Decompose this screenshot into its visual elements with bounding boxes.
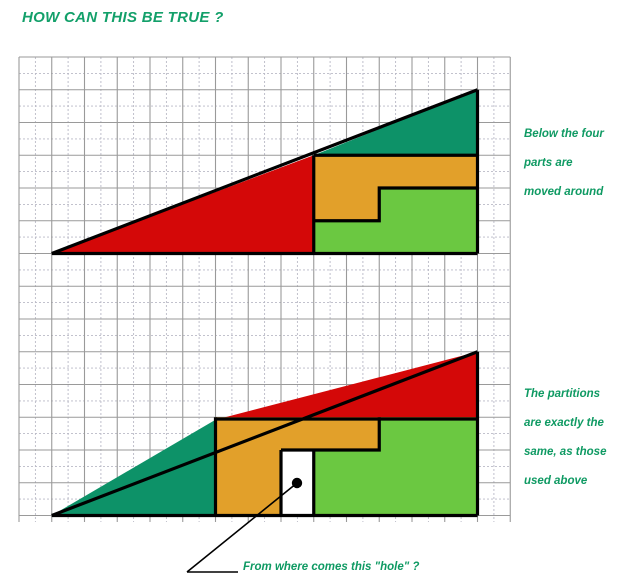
- note-bottom-line-3: same, as those: [524, 438, 606, 467]
- note-bottom-line-4: used above: [524, 467, 606, 496]
- note-bottom-line-2: are exactly the: [524, 409, 606, 438]
- hole-caption: From where comes this "hole" ?: [243, 561, 419, 573]
- note-top-line-3: moved around: [524, 178, 604, 207]
- note-top-line-2: parts are: [524, 149, 604, 178]
- note-bottom-line-1: The partitions: [524, 380, 606, 409]
- note-top: Below the four parts are moved around: [524, 120, 604, 207]
- hole-dot: [292, 478, 302, 488]
- note-bottom: The partitions are exactly the same, as …: [524, 380, 606, 496]
- figure-canvas: [0, 0, 624, 588]
- note-top-line-1: Below the four: [524, 120, 604, 149]
